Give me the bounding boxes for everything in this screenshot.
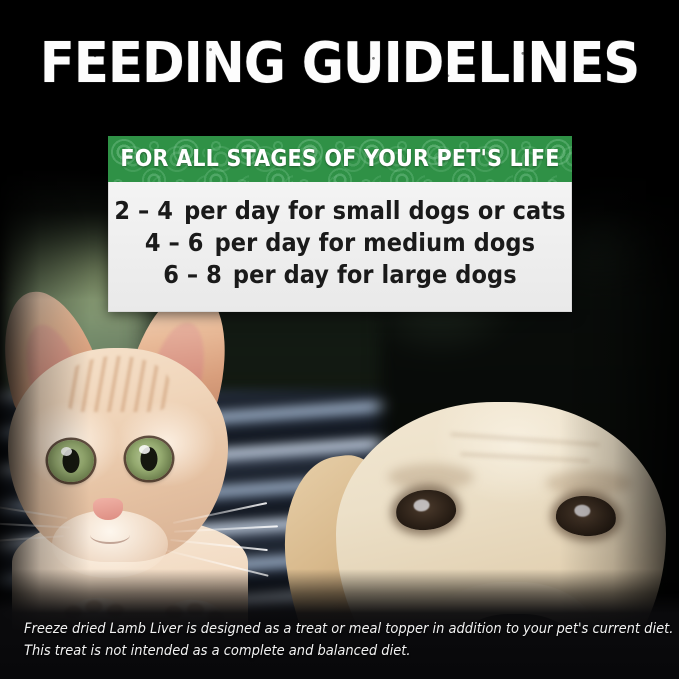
labrador-brow-right — [546, 470, 632, 496]
disclaimer-text: Freeze dried Lamb Liver is designed as a… — [24, 618, 659, 662]
feeding-description: per day for large dogs — [233, 260, 517, 289]
feeding-amounts-box: 2 – 4per day for small dogs or cats 4 – … — [108, 182, 572, 312]
feeding-description: per day for small dogs or cats — [184, 196, 566, 225]
kitten-figure — [0, 282, 286, 642]
feeding-amount: 2 – 4 — [114, 196, 173, 225]
feeding-row: 6 – 8per day for large dogs — [109, 259, 571, 291]
kitten-whiskers — [0, 482, 286, 612]
stages-banner-label: FOR ALL STAGES OF YOUR PET'S LIFE — [120, 146, 559, 172]
feeding-guidelines-panel: FOR ALL STAGES OF YOUR PET'S LIFE 2 – 4p… — [108, 136, 572, 312]
pets-photo — [0, 0, 679, 679]
feeding-description: per day for medium dogs — [215, 228, 536, 257]
feeding-row: 4 – 6per day for medium dogs — [109, 227, 571, 259]
disclaimer-line-1: Freeze dried Lamb Liver is designed as a… — [24, 618, 659, 640]
feeding-row: 2 – 4per day for small dogs or cats — [109, 195, 571, 227]
feeding-amount: 6 – 8 — [163, 260, 222, 289]
kitten-forehead-stripes — [64, 356, 170, 412]
kitten-eye-right — [126, 438, 172, 480]
stages-banner: FOR ALL STAGES OF YOUR PET'S LIFE — [108, 136, 572, 182]
product-infographic: FEEDING GUIDELINES FOR ALL STAGES OF YOU… — [0, 0, 679, 679]
labrador-brow-left — [388, 464, 474, 490]
kitten-eye-left — [48, 440, 94, 482]
disclaimer-line-2: This treat is not intended as a complete… — [24, 640, 659, 662]
feeding-amount: 4 – 6 — [145, 228, 204, 257]
page-title: FEEDING GUIDELINES — [0, 36, 679, 92]
